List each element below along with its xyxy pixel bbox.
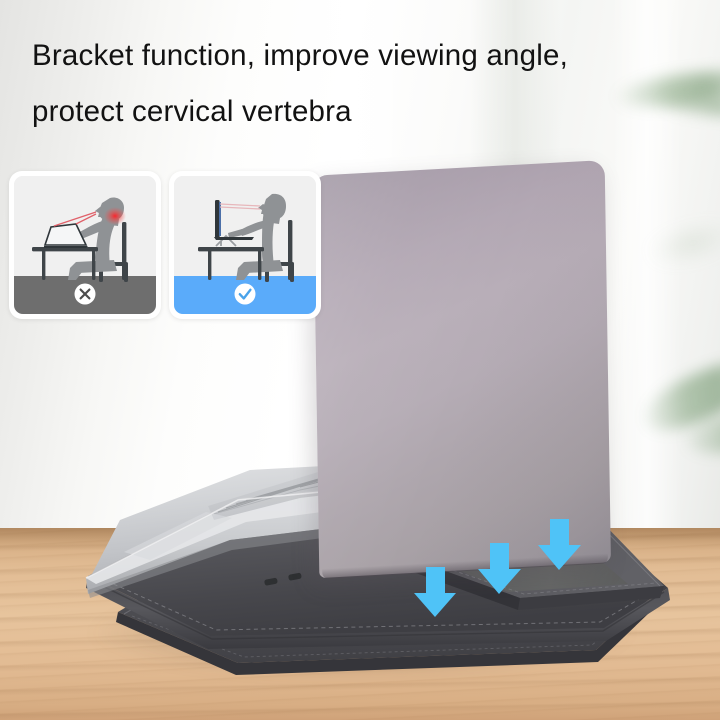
neck-pain-marker [104, 207, 126, 225]
arrow-down-icon [478, 543, 521, 594]
good-posture-illustration [174, 176, 316, 314]
bad-posture-illustration [14, 176, 156, 314]
arrow-down-icon [538, 519, 581, 570]
status-badge-correct [235, 284, 256, 305]
status-badge-incorrect [75, 284, 96, 305]
posture-card-correct [169, 171, 321, 319]
product-marketing-image: Bracket function, improve viewing angle,… [0, 0, 720, 720]
posture-card-incorrect [9, 171, 161, 319]
page-title: Bracket function, improve viewing angle,… [32, 28, 692, 140]
arrow-down-icon [414, 567, 456, 617]
arrow-overlay [398, 505, 638, 635]
posture-comparison-group [9, 171, 321, 319]
